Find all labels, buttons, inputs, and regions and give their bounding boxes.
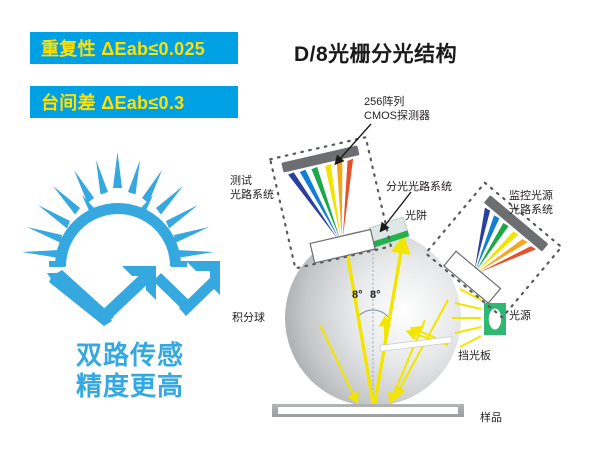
infographic-canvas: 重复性 ΔEab≤0.025 台间差 ΔEab≤0.3 D/8光栅分光结构 — [0, 0, 600, 450]
label-splitting-optical-path: 分光光路系统 — [386, 181, 452, 195]
label-light-source: 光源 — [509, 310, 531, 324]
label-test-optical-path: 测试 光路系统 — [230, 175, 274, 203]
label-angle-right: 8° — [370, 289, 381, 303]
label-monitor-line2: 光路系统 — [509, 204, 553, 218]
label-baffle: 挡光板 — [458, 350, 491, 364]
label-cmos-detector: 256阵列 CMOS探测器 — [364, 96, 430, 124]
sample-plate — [272, 404, 464, 417]
label-sample: 样品 — [480, 412, 502, 426]
label-monitor-line1: 监控光源 — [509, 190, 553, 204]
label-test-line2: 光路系统 — [230, 189, 274, 203]
label-integrating-sphere: 积分球 — [232, 312, 265, 326]
label-test-line1: 测试 — [230, 175, 274, 189]
label-angle-left: 8° — [352, 289, 363, 303]
optical-structure-diagram — [0, 0, 600, 450]
light-source-lamp — [484, 303, 506, 335]
label-cmos-line2: CMOS探测器 — [364, 110, 430, 124]
label-cmos-line1: 256阵列 — [364, 96, 430, 110]
label-light-trap: 光阱 — [405, 210, 427, 224]
label-monitor-optical-path: 监控光源 光路系统 — [509, 190, 553, 218]
test-optical-module — [270, 137, 391, 268]
